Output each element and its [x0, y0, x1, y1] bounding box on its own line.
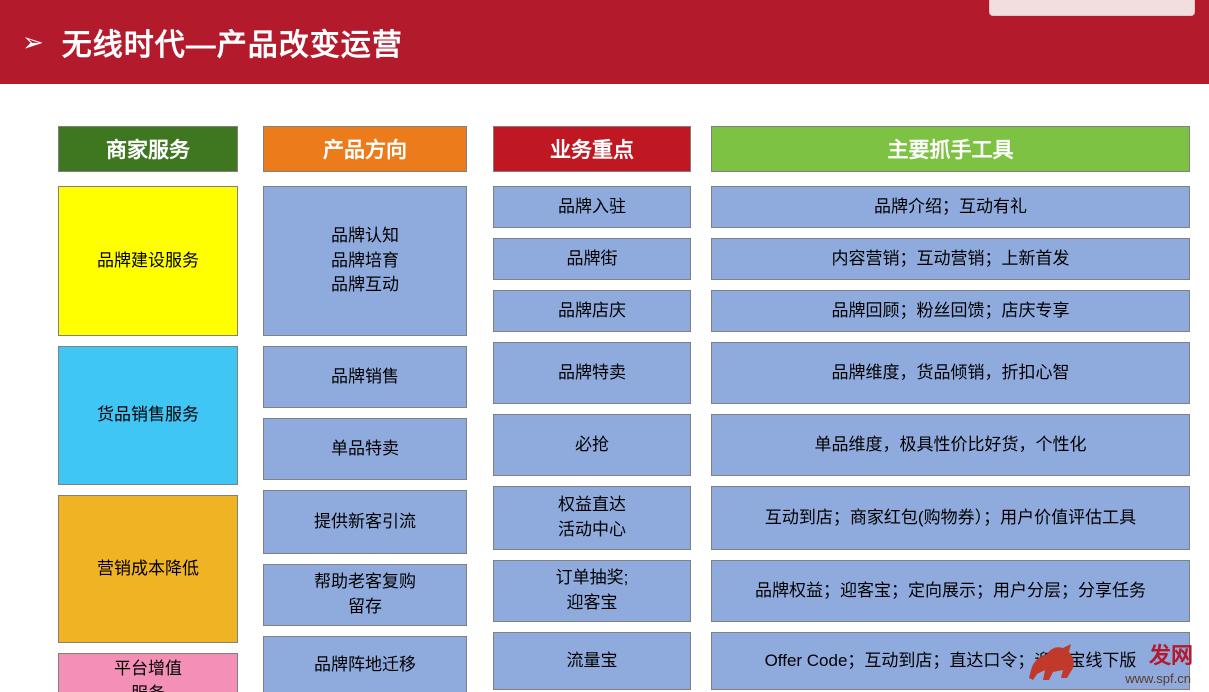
cell-focus-8: 流量宝	[493, 632, 691, 690]
cell-tools-6: 互动到店；商家红包(购物券）；用户价值评估工具	[711, 486, 1190, 550]
page-title: 无线时代—产品改变运营	[62, 20, 403, 64]
cell-tools-1: 品牌介绍；互动有礼	[711, 186, 1190, 228]
cell-product-2: 品牌销售	[263, 346, 467, 408]
cell-product-5: 帮助老客复购留存	[263, 564, 467, 626]
cell-focus-3: 品牌店庆	[493, 290, 691, 332]
matrix-grid: 商家服务 产品方向 业务重点 主要抓手工具 品牌建设服务 货品销售服务 营销成本…	[58, 126, 1190, 692]
cell-tools-3: 品牌回顾；粉丝回馈；店庆专享	[711, 290, 1190, 332]
cell-tools-2: 内容营销；互动营销；上新首发	[711, 238, 1190, 280]
column-header-product-direction: 产品方向	[263, 126, 467, 172]
top-right-tab[interactable]	[989, 0, 1195, 16]
cell-focus-6: 权益直达活动中心	[493, 486, 691, 550]
cell-focus-5: 必抢	[493, 414, 691, 476]
cell-product-1: 品牌认知品牌培育品牌互动	[263, 186, 467, 336]
column-header-row: 商家服务 产品方向 业务重点 主要抓手工具	[58, 126, 1190, 172]
cell-merchant-3: 营销成本降低	[58, 495, 238, 643]
cell-tools-4: 品牌维度，货品倾销，折扣心智	[711, 342, 1190, 404]
column-business-focus: 品牌入驻 品牌街 品牌店庆 品牌特卖 必抢 权益直达活动中心 订单抽奖;迎客宝 …	[493, 186, 691, 692]
slide-canvas: ➢ 无线时代—产品改变运营 商家服务 产品方向 业务重点 主要抓手工具 品牌建设…	[0, 0, 1209, 692]
cell-focus-2: 品牌街	[493, 238, 691, 280]
column-header-business-focus: 业务重点	[493, 126, 691, 172]
cell-tools-8: Offer Code；互动到店；直达口令；迎客宝线下版	[711, 632, 1190, 690]
cell-product-4: 提供新客引流	[263, 490, 467, 554]
cell-product-6: 品牌阵地迁移	[263, 636, 467, 692]
column-header-merchant-service: 商家服务	[58, 126, 238, 172]
cell-focus-1: 品牌入驻	[493, 186, 691, 228]
column-merchant-service: 品牌建设服务 货品销售服务 营销成本降低 平台增值服务	[58, 186, 238, 692]
cell-tools-5: 单品维度，极具性价比好货，个性化	[711, 414, 1190, 476]
column-product-direction: 品牌认知品牌培育品牌互动 品牌销售 单品特卖 提供新客引流 帮助老客复购留存 品…	[263, 186, 467, 692]
cell-merchant-1: 品牌建设服务	[58, 186, 238, 336]
cell-focus-4: 品牌特卖	[493, 342, 691, 404]
cell-merchant-4: 平台增值服务	[58, 653, 238, 692]
cell-merchant-2: 货品销售服务	[58, 346, 238, 485]
cell-product-3: 单品特卖	[263, 418, 467, 480]
matrix-body: 品牌建设服务 货品销售服务 营销成本降低 平台增值服务 品牌认知品牌培育品牌互动…	[58, 186, 1190, 692]
cell-tools-7: 品牌权益；迎客宝；定向展示；用户分层；分享任务	[711, 560, 1190, 622]
column-header-main-tools: 主要抓手工具	[711, 126, 1190, 172]
cell-focus-7: 订单抽奖;迎客宝	[493, 560, 691, 622]
bullet-arrow-icon: ➢	[22, 29, 44, 55]
column-main-tools: 品牌介绍；互动有礼 内容营销；互动营销；上新首发 品牌回顾；粉丝回馈；店庆专享 …	[711, 186, 1190, 692]
